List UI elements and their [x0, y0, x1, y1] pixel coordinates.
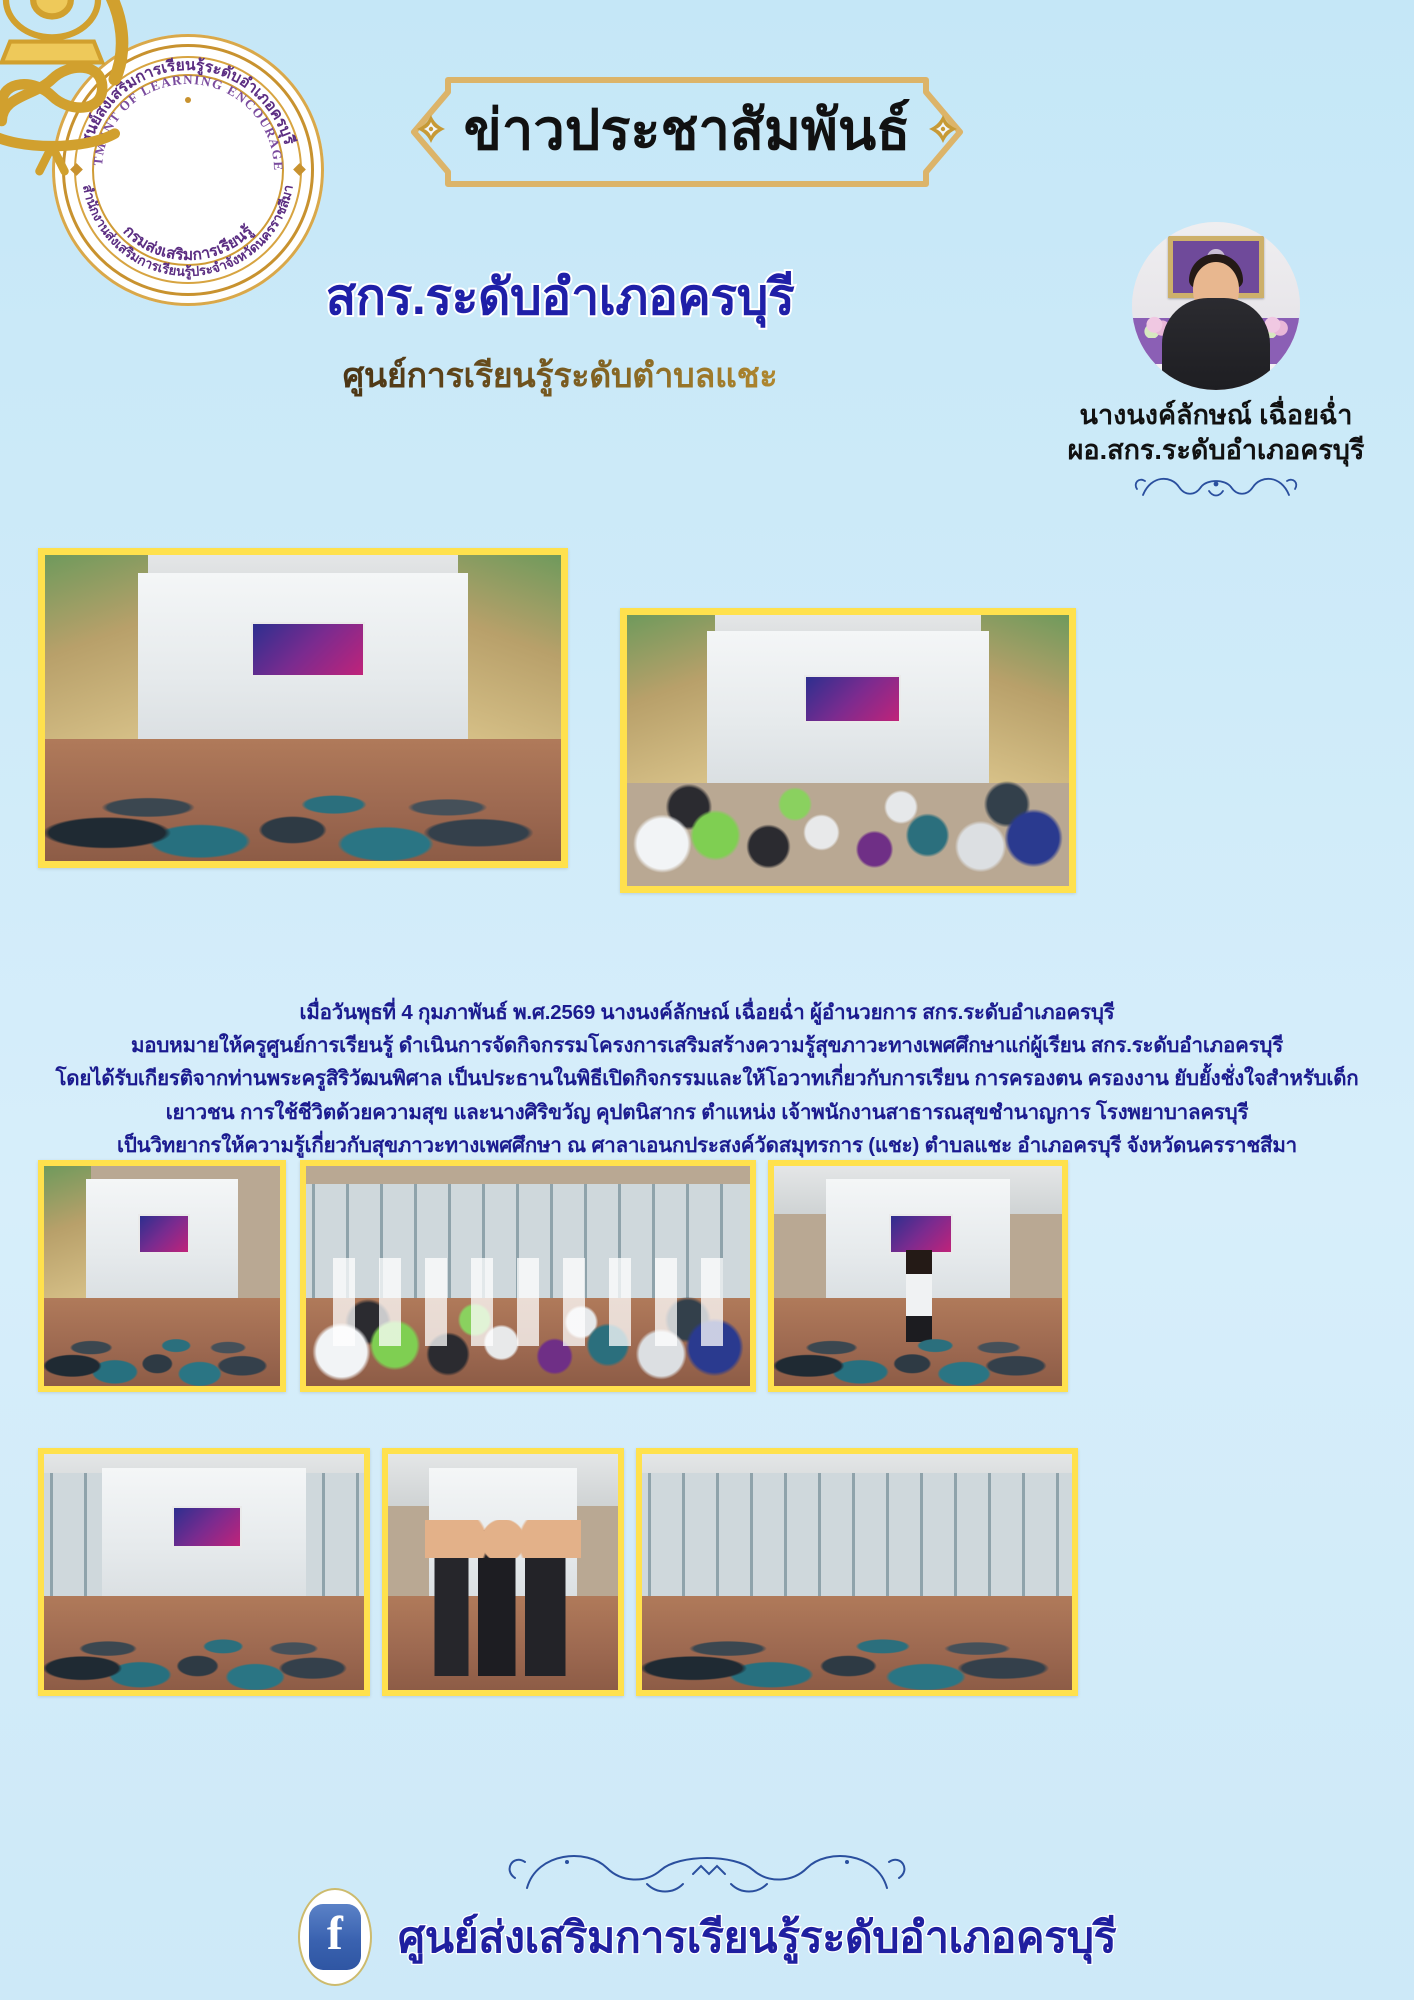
scene-corridor-activity — [642, 1454, 1072, 1690]
scene-mural-right — [458, 555, 561, 745]
body-line-4: เยาวชน การใช้ชีวิตด้วยความสุข และนางศิริ… — [40, 1096, 1374, 1129]
body-line-2: มอบหมายให้ครูศูนย์การเรียนรู้ ดำเนินการจ… — [40, 1029, 1374, 1062]
scene-event-banner — [251, 622, 365, 677]
footer-content-row: f ศูนย์ส่งเสริมการเรียนรู้ระดับอำเภอครบุ… — [0, 1888, 1414, 1986]
photo-row3-item-2 — [382, 1448, 624, 1696]
diamond-ornament-right-icon — [928, 114, 958, 144]
director-role: ผอ.สกร.ระดับอำเภอครบุรี — [1066, 433, 1366, 468]
photo-row-2 — [0, 1160, 1414, 1470]
scene-group-of-people — [627, 745, 1069, 886]
scene-seated-audience — [44, 1581, 364, 1690]
photo-image-3 — [44, 1166, 280, 1386]
director-card: นางนงค์ลักษณ์ เฉื่อยฉ่ำ ผอ.สกร.ระดับอำเภ… — [1066, 222, 1366, 508]
page-title: สกร.ระดับอำเภอครบุรี — [250, 258, 870, 337]
scene-seated-audience — [642, 1581, 1072, 1690]
photo-row2-item-1 — [38, 1160, 286, 1392]
royal-crown-emblem-icon — [0, 0, 188, 175]
scene-seated-audience — [45, 720, 561, 861]
news-banner: ข่าวประชาสัมพันธ์ — [398, 62, 976, 202]
banner-title-text: ข่าวประชาสัมพันธ์ — [464, 85, 911, 174]
photo-image-7 — [388, 1454, 618, 1690]
page-subtitle: ศูนย์การเรียนรู้ระดับตำบลแชะ — [250, 348, 870, 402]
body-line-5: เป็นวิทยากรให้ความรู้เกี่ยวกับสุขภาวะทาง… — [40, 1129, 1374, 1162]
body-line-1: เมื่อวันพุธที่ 4 กุมภาพันธ์ พ.ศ.2569 นาง… — [40, 996, 1374, 1029]
photo-row2-item-2 — [300, 1160, 756, 1392]
scene-event-banner — [138, 1214, 190, 1254]
news-body-text: เมื่อวันพุธที่ 4 กุมภาพันธ์ พ.ศ.2569 นาง… — [0, 996, 1414, 1162]
scene-leaflets — [333, 1258, 724, 1346]
photo-row-1 — [0, 548, 1414, 780]
director-avatar — [1132, 222, 1300, 390]
scene-mural-left — [44, 1166, 91, 1302]
facebook-glyph: f — [309, 1904, 361, 1970]
banner-label-row: ข่าวประชาสัมพันธ์ — [398, 62, 976, 202]
scene-seated-audience — [44, 1285, 280, 1386]
photo-image-6 — [44, 1454, 364, 1690]
facebook-icon[interactable]: f — [298, 1888, 372, 1986]
photo-row-3 — [0, 1448, 1414, 1718]
scene-wide-hall — [44, 1454, 364, 1690]
photo-image-1 — [45, 555, 561, 861]
photo-row3-item-3 — [636, 1448, 1078, 1696]
scene-speaker-presenting — [774, 1166, 1062, 1386]
scene-event-banner — [889, 1214, 952, 1254]
photo-image-4 — [306, 1166, 750, 1386]
scene-three-faces — [425, 1520, 581, 1558]
decorative-flourish-icon — [1131, 469, 1301, 503]
photo-image-8 — [642, 1454, 1072, 1690]
poster-header: ศูนย์ส่งเสริมการเรียนรู้ระดับอำเภอครบุรี… — [0, 0, 1414, 240]
photo-row1-item-2 — [620, 608, 1076, 893]
diamond-ornament-left-icon — [416, 114, 446, 144]
body-line-3: โดยได้รับเกียรติจากท่านพระครูสิริวัฒนพิศ… — [40, 1062, 1374, 1095]
director-torso — [1162, 298, 1270, 390]
scene-event-banner — [804, 675, 901, 724]
scene-classroom-temple — [45, 555, 561, 861]
scene-staff-group — [388, 1454, 618, 1690]
photo-image-2 — [627, 615, 1069, 886]
scene-learners-with-leaflets — [306, 1166, 750, 1386]
scene-opening-ceremony — [44, 1166, 280, 1386]
scene-group-photo — [627, 615, 1069, 886]
director-name: นางนงค์ลักษณ์ เฉื่อยฉ่ำ — [1066, 398, 1366, 433]
photo-row2-item-3 — [768, 1160, 1068, 1392]
photo-image-5 — [774, 1166, 1062, 1386]
photo-row3-item-1 — [38, 1448, 370, 1696]
footer-page-name: ศูนย์ส่งเสริมการเรียนรู้ระดับอำเภอครบุรี — [398, 1903, 1116, 1971]
photo-row1-item-1 — [38, 548, 568, 868]
scene-event-banner — [172, 1506, 242, 1548]
poster-footer: f ศูนย์ส่งเสริมการเรียนรู้ระดับอำเภอครบุ… — [0, 1850, 1414, 2000]
scene-mural-left — [45, 555, 148, 745]
scene-seated-audience — [774, 1285, 1062, 1386]
